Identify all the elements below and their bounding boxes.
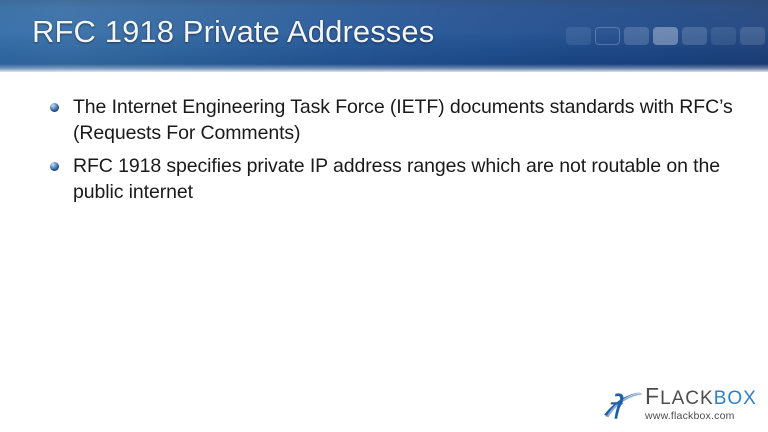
slide-header-banner: RFC 1918 Private Addresses [0,0,768,72]
bullet-sphere-icon [50,162,59,171]
decorative-square-4 [653,27,678,45]
logo-flack-rest: LACK [660,388,714,409]
decorative-square-1 [566,27,591,45]
header-decorative-squares [566,27,765,45]
decorative-square-3 [624,27,649,45]
logo-box-word: BOX [714,388,757,409]
page-title: RFC 1918 Private Addresses [32,13,434,51]
logo-url: www.flackbox.com [645,411,757,422]
flackbox-logo: FLACKBOX www.flackbox.com [601,383,751,423]
decorative-square-6 [711,27,736,45]
decorative-square-5 [682,27,707,45]
flackbox-logo-text: FLACKBOX www.flackbox.com [645,385,757,422]
flackbox-wordmark: FLACKBOX [645,385,757,408]
decorative-square-2 [595,27,620,45]
bullet-text-1: The Internet Engineering Task Force (IET… [73,94,740,146]
flackbox-swoosh-icon [601,386,643,420]
slide-canvas: RFC 1918 Private Addresses The Internet … [0,0,768,432]
decorative-square-7 [740,27,765,45]
header-bottom-fade [0,64,768,72]
list-item: The Internet Engineering Task Force (IET… [50,94,740,146]
bullet-sphere-icon [50,103,59,112]
bullet-text-2: RFC 1918 specifies private IP address ra… [73,153,740,205]
list-item: RFC 1918 specifies private IP address ra… [50,153,740,205]
slide-body-content: The Internet Engineering Task Force (IET… [50,94,740,212]
logo-flack-cap: F [645,383,660,409]
